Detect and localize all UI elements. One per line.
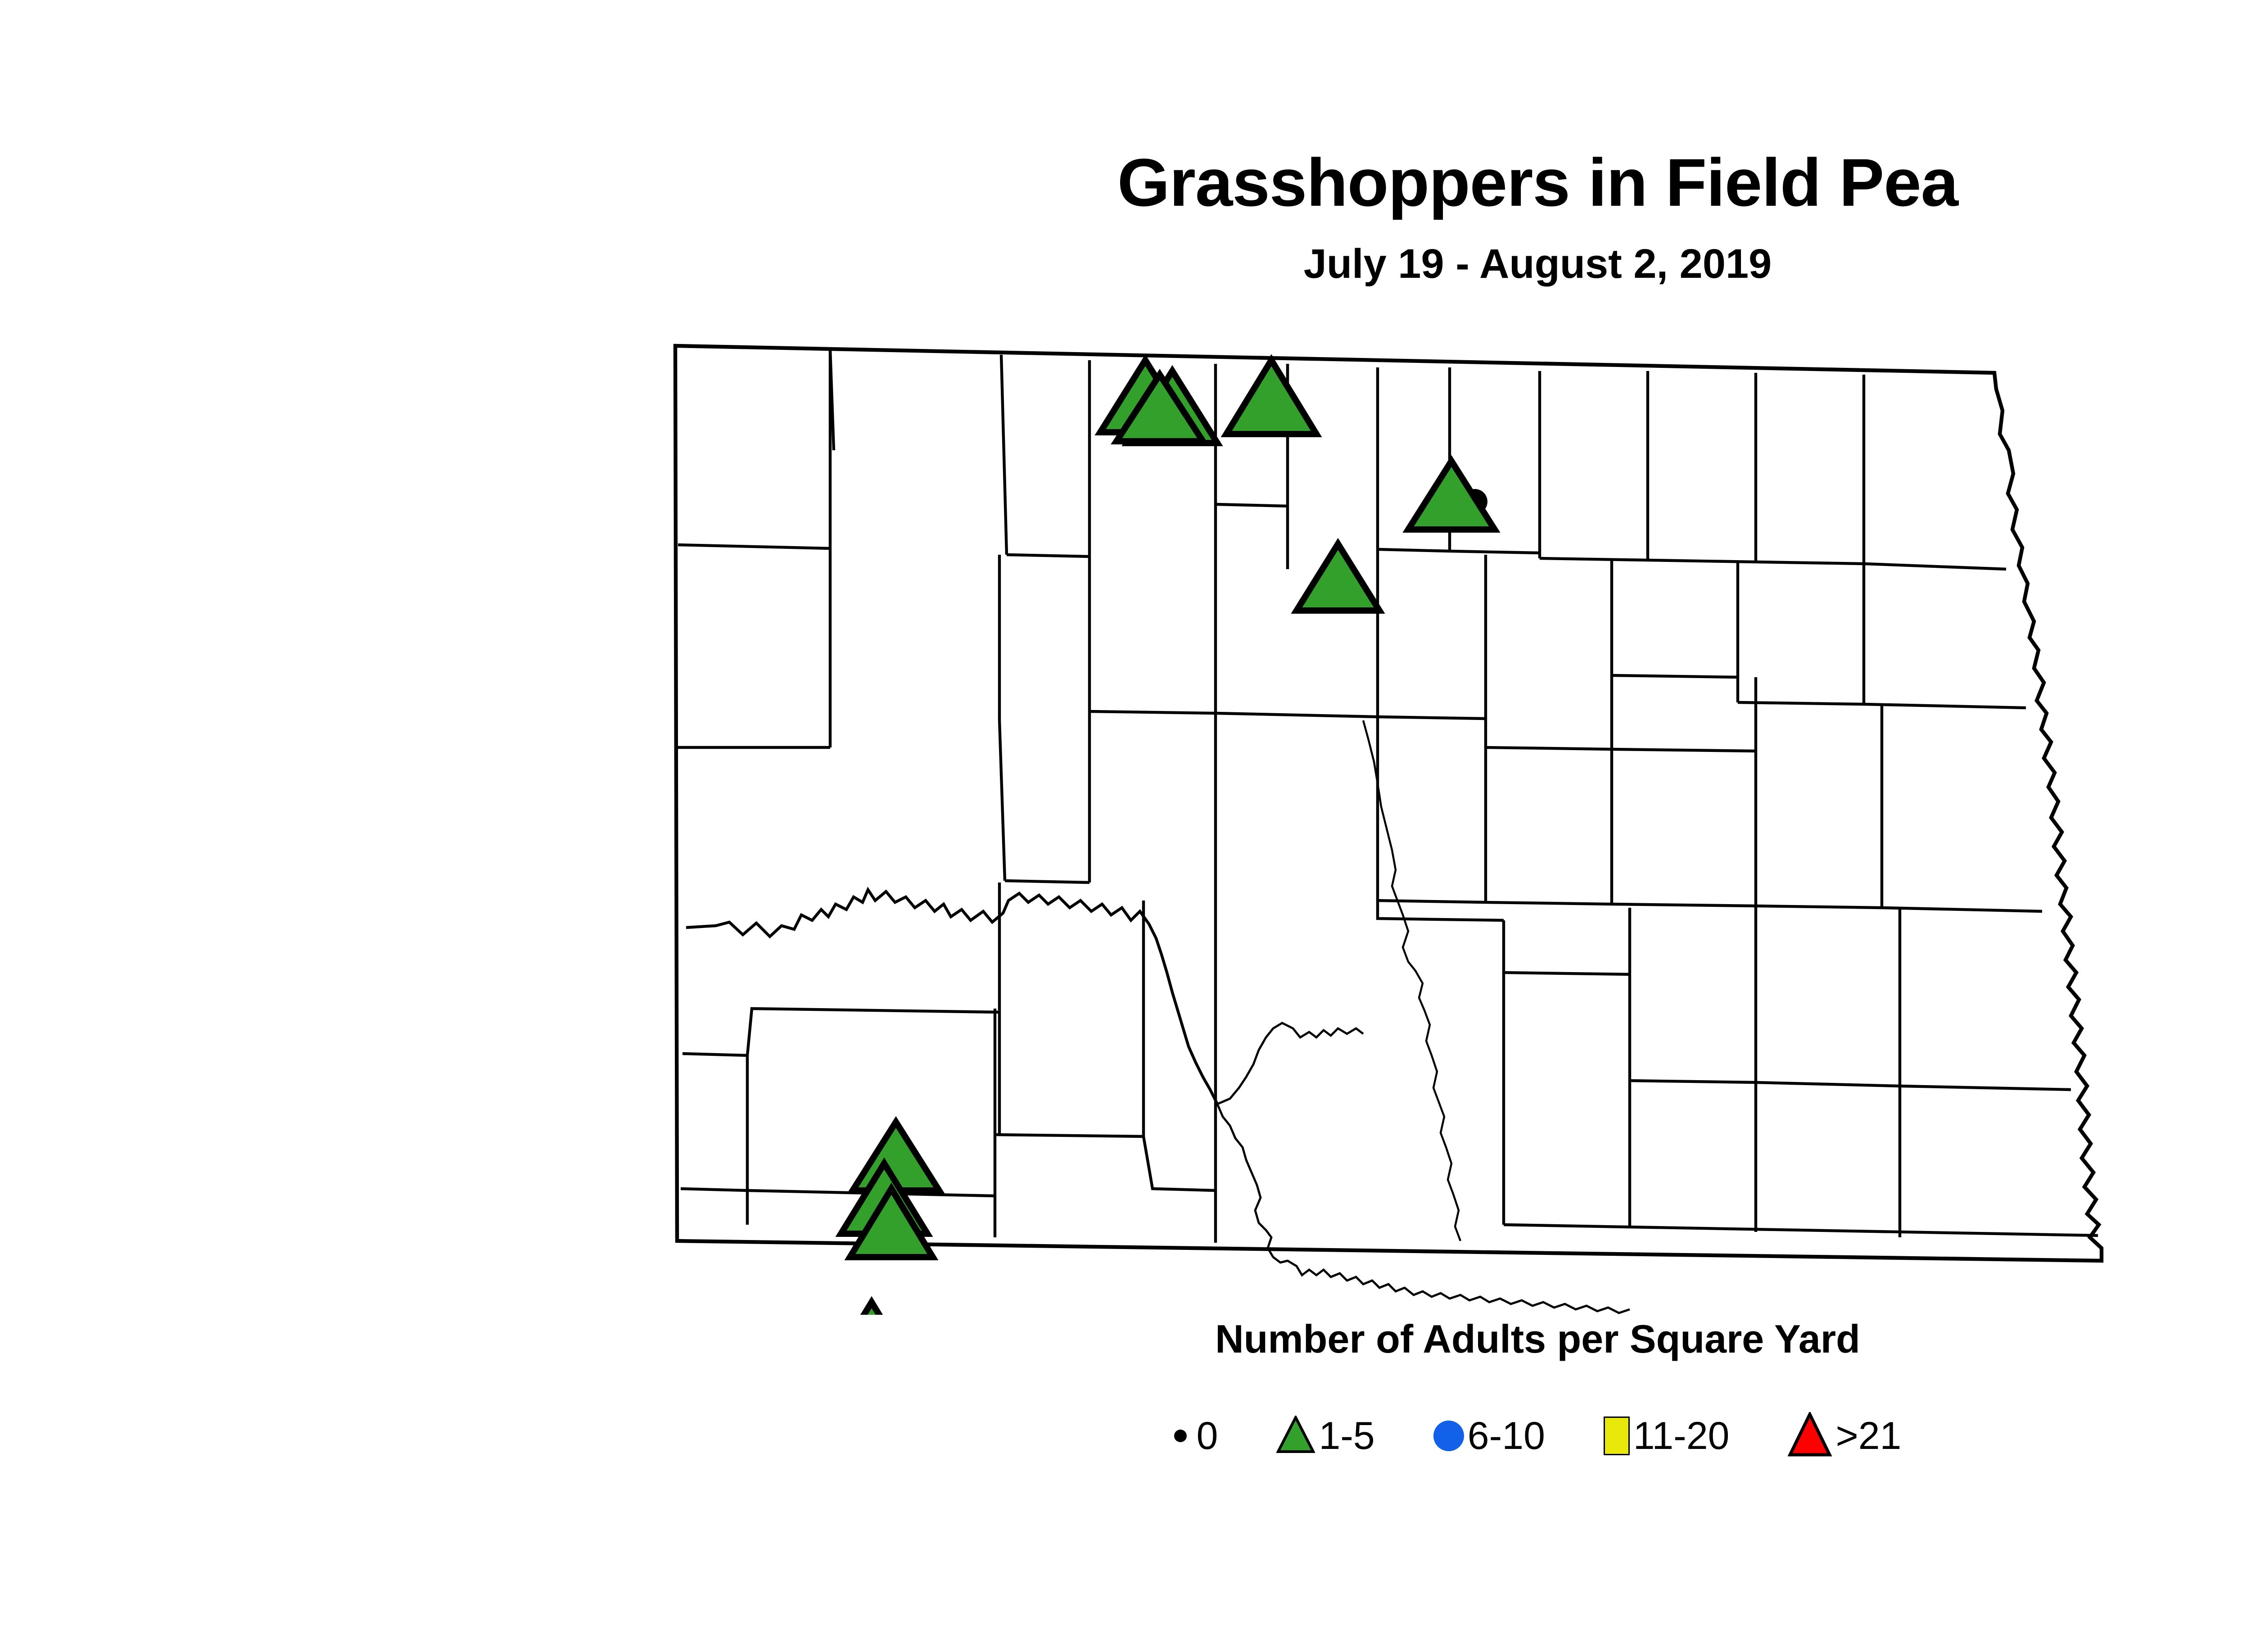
legend-label-gt21: >21	[1835, 1417, 1901, 1455]
map-figure: Grasshoppers in Field Pea July 19 - Augu…	[0, 0, 2251, 1652]
legend-item-zero: 0	[1174, 1417, 1218, 1455]
blue-circle-icon	[1433, 1421, 1464, 1451]
county-line-n19	[1756, 562, 1864, 564]
page-title: Grasshoppers in Field Pea	[0, 149, 2251, 216]
data-point-triangle	[830, 1302, 913, 1315]
county-line-n7	[1216, 504, 1288, 506]
county-line-sw1	[683, 1009, 999, 1055]
county-line-n10	[1216, 713, 1378, 717]
legend-item-1-5: 1-5	[1276, 1416, 1374, 1456]
county-line-s2l	[1612, 749, 1756, 751]
county-line-sw9	[1144, 1136, 1216, 1190]
county-line-t3k	[1612, 904, 1756, 906]
county-line-t3b	[999, 720, 1005, 881]
legend: Number of Adults per Square Yard 0 1-5 6…	[0, 1319, 2251, 1459]
county-line-s2f	[1612, 675, 1738, 677]
data-points-layer	[830, 360, 1495, 1315]
county-line-n2	[1007, 555, 1089, 557]
county-line-s2k	[1864, 704, 2026, 708]
county-line-w6	[686, 890, 1217, 1104]
legend-label-11-20: 11-20	[1633, 1417, 1730, 1455]
legend-title: Number of Adults per Square Yard	[0, 1319, 2251, 1359]
county-line-w1	[678, 545, 830, 548]
title-block: Grasshoppers in Field Pea July 19 - Augu…	[0, 149, 2251, 285]
red-triangle-icon	[1788, 1412, 1832, 1459]
county-line-sw4	[681, 1189, 747, 1190]
county-line-s2a	[1378, 717, 1486, 719]
page-subtitle: July 19 - August 2, 2019	[0, 243, 2251, 285]
legend-label-6-10: 6-10	[1468, 1417, 1545, 1455]
county-line-se2	[1504, 920, 1630, 974]
legend-item-11-20: 11-20	[1604, 1417, 1730, 1455]
legend-items: 0 1-5 6-10 11-20	[0, 1412, 2251, 1459]
yellow-square-icon	[1604, 1417, 1630, 1455]
county-line-t3o	[1882, 908, 2042, 911]
north-dakota-map	[585, 324, 2206, 1315]
county-line-t3c	[1005, 881, 1089, 883]
state-outline	[675, 346, 2102, 1261]
legend-item-gt21: >21	[1788, 1412, 1901, 1459]
county-line-se7	[1756, 1082, 1900, 1086]
county-line-n12	[1378, 549, 1450, 551]
legend-label-zero: 0	[1197, 1417, 1218, 1455]
county-line-t3i	[1486, 902, 1612, 904]
county-line-n15	[1540, 558, 1648, 560]
county-line-n17	[1648, 560, 1756, 562]
county-line-t3m	[1756, 906, 1882, 908]
black-dot-icon	[1174, 1430, 1187, 1442]
county-line-se5	[1630, 1081, 1756, 1082]
county-line-se14	[1504, 1225, 2098, 1236]
county-line-n21	[1864, 564, 2006, 569]
data-point-triangle	[1226, 360, 1316, 434]
county-line-n5	[1089, 711, 1216, 713]
nd-county-map-svg	[585, 324, 2206, 1315]
county-line-s2d	[1486, 747, 1612, 749]
county-line-n22	[1450, 551, 1540, 553]
county-line-sw7	[995, 1135, 1144, 1136]
legend-label-1-5: 1-5	[1319, 1417, 1374, 1455]
missouri-river-upper	[1217, 1023, 1363, 1104]
county-line-t3g	[1378, 901, 1486, 902]
data-point-triangle	[1297, 544, 1379, 611]
green-triangle-icon	[1276, 1416, 1315, 1456]
county-line-n1	[1001, 355, 1007, 555]
missouri-river	[1217, 1104, 1630, 1313]
county-line-se9	[1900, 1086, 2071, 1090]
legend-item-6-10: 6-10	[1433, 1417, 1545, 1455]
